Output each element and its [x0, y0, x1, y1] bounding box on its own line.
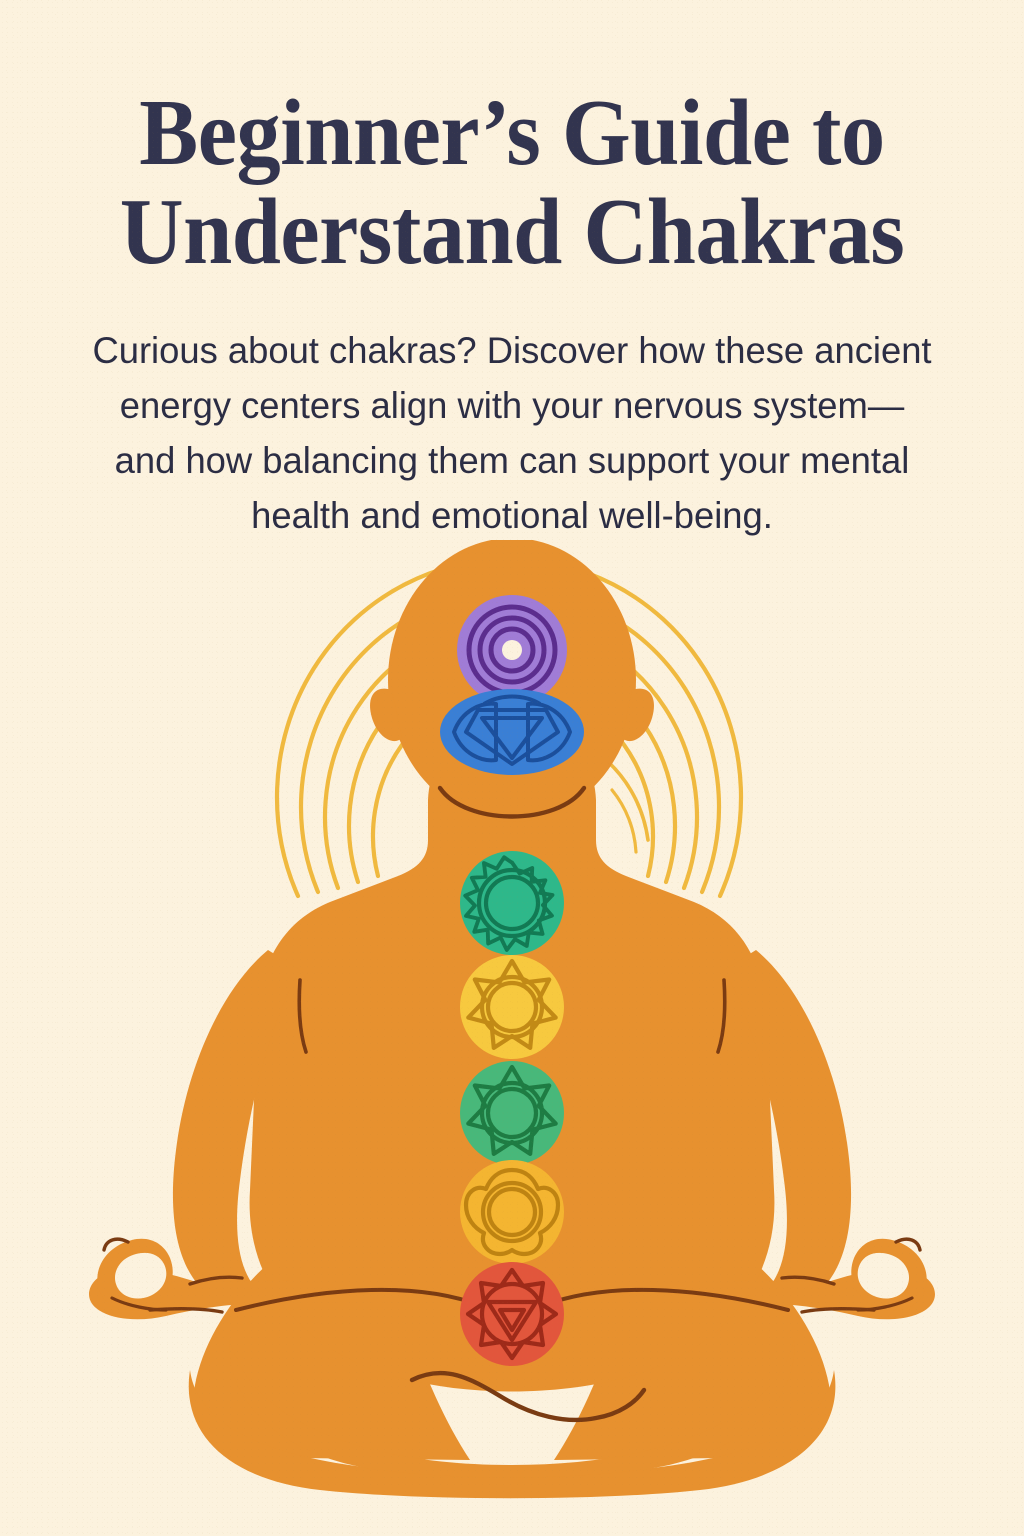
chakra-third-eye[interactable]: [440, 689, 584, 775]
poster-canvas: Beginner’s Guide to Understand Chakras C…: [0, 0, 1024, 1536]
chakra-solar-plexus[interactable]: [460, 955, 564, 1059]
chakra-illustration: [0, 540, 1024, 1500]
chakra-root[interactable]: [460, 1262, 564, 1366]
chakra-sacral[interactable]: [460, 1160, 564, 1264]
chakra-crown[interactable]: [457, 595, 567, 705]
page-title-line-1: Beginner’s Guide to: [89, 84, 935, 183]
page-title-line-2: Understand Chakras: [89, 183, 935, 282]
chakra-throat[interactable]: [460, 851, 564, 955]
header-text-block: Beginner’s Guide to Understand Chakras C…: [0, 0, 1024, 542]
page-title: Beginner’s Guide to Understand Chakras: [89, 84, 935, 281]
page-subtitle: Curious about chakras? Discover how thes…: [91, 323, 933, 542]
chakra-heart[interactable]: [460, 1061, 564, 1165]
